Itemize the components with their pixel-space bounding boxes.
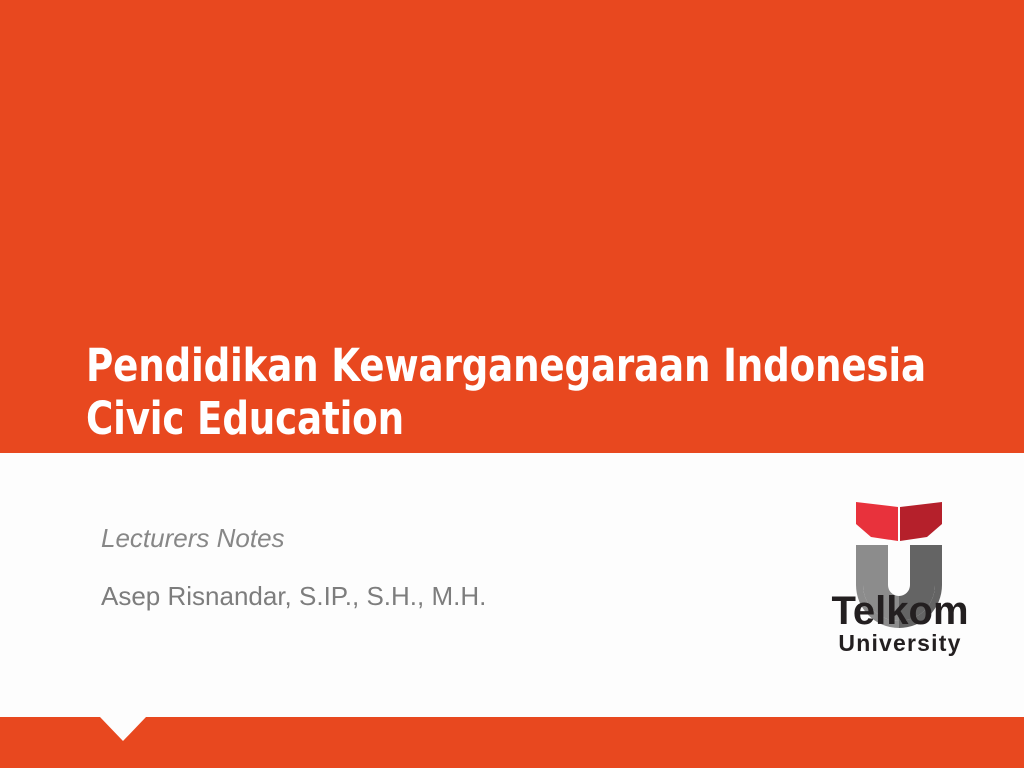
title-slide: Pendidikan Kewarganegaraan Indonesia Civ… <box>0 0 1024 768</box>
lecturers-notes-label: Lecturers Notes <box>101 521 701 555</box>
logo-wordmark-secondary: University <box>838 630 961 656</box>
footer-bar <box>0 717 1024 768</box>
author-name: Asep Risnandar, S.IP., S.H., M.H. <box>101 580 701 612</box>
book-icon <box>856 502 942 541</box>
title-banner: Pendidikan Kewarganegaraan Indonesia Civ… <box>0 0 1024 453</box>
slide-title-line-2: Civic Education <box>86 392 896 445</box>
slide-title-line-1: Pendidikan Kewarganegaraan Indonesia <box>86 339 896 392</box>
telkom-university-logo: Telkom University <box>812 493 988 659</box>
subtitle-block: Lecturers Notes Asep Risnandar, S.IP., S… <box>101 521 701 612</box>
footer-notch-triangle <box>100 717 146 741</box>
logo-wordmark-primary: Telkom <box>831 589 968 633</box>
title-block: Pendidikan Kewarganegaraan Indonesia Civ… <box>86 339 966 445</box>
